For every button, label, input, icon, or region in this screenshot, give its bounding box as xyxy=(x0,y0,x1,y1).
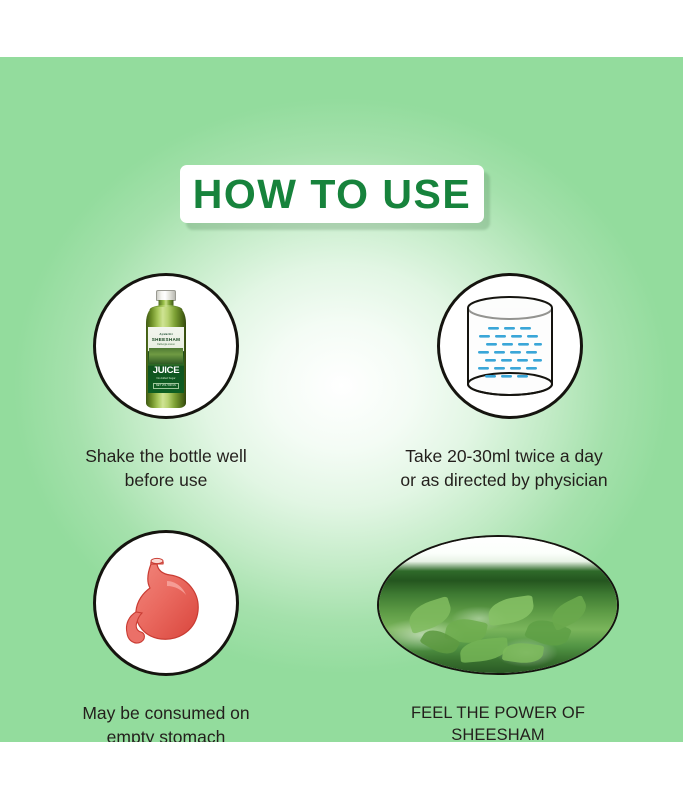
bottle-circle-frame: Ayukriti SHEESHAM Dalbergia sissoo JUICE… xyxy=(93,273,239,419)
leaves-ellipse-frame xyxy=(377,535,619,675)
page-title: HOW TO USE xyxy=(180,165,484,223)
label-juice-word: JUICE xyxy=(153,366,179,376)
sheesham-leaves-photo xyxy=(379,537,617,673)
label-brand: Ayukriti xyxy=(159,332,172,336)
label-subtitle: Dalbergia sissoo xyxy=(157,343,175,346)
stomach-circle-frame xyxy=(93,530,239,676)
step-caption-leaves: FEEL THE POWER OF SHEESHAM xyxy=(372,702,624,742)
bottle-label: Ayukriti SHEESHAM Dalbergia sissoo JUICE… xyxy=(148,327,184,393)
measuring-glass-icon xyxy=(457,296,563,402)
juice-bottle-icon: Ayukriti SHEESHAM Dalbergia sissoo JUICE… xyxy=(145,290,187,410)
step-caption-dosage: Take 20-30ml twice a day or as directed … xyxy=(378,445,630,492)
label-tagline: No Added Sugar xyxy=(156,377,175,380)
title-box: HOW TO USE xyxy=(180,165,484,223)
step-caption-shake: Shake the bottle well before use xyxy=(40,445,292,492)
stomach-icon xyxy=(112,550,222,660)
step-caption-stomach: May be consumed on empty stomach xyxy=(40,702,292,742)
title-text: HOW TO USE xyxy=(193,174,471,215)
poster-canvas: HOW TO USE Ayukriti SHEESHAM Dalbergia s… xyxy=(0,57,683,742)
label-volume: NET VOL 500 ML xyxy=(153,383,178,389)
glass-circle-frame xyxy=(437,273,583,419)
label-photo-strip xyxy=(149,348,183,364)
label-product-name: SHEESHAM xyxy=(152,337,180,342)
